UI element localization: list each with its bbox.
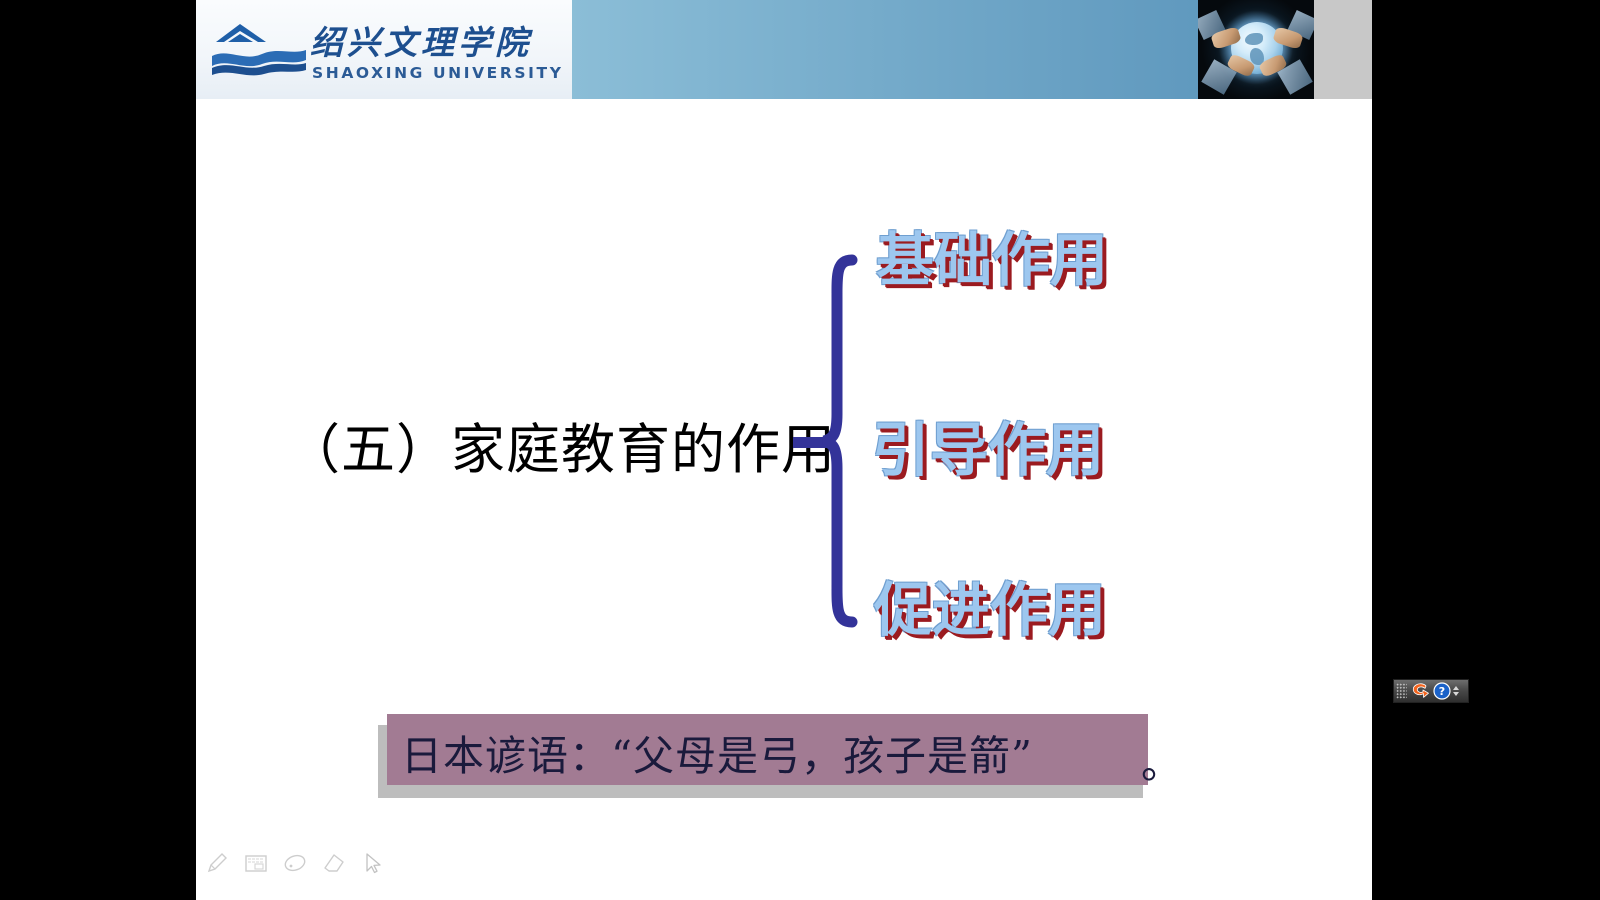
branch-label-3: 促进作用 [874, 563, 1106, 647]
screen-root: 绍兴文理学院 SHAOXING UNIVERSITY （五）家庭教育的作用 [0, 0, 1600, 900]
eraser-icon[interactable] [321, 850, 347, 876]
curly-brace-icon [822, 254, 858, 628]
branch-label-2: 引导作用 [872, 403, 1104, 487]
globe-continent [1245, 33, 1263, 45]
proverb-text: 日本谚语：“父母是弓，孩子是箭” [401, 722, 1033, 782]
drag-grip-icon[interactable] [1396, 683, 1407, 699]
highlighter-icon[interactable] [282, 850, 308, 876]
hands-holding-globe-photo [1198, 0, 1314, 99]
university-name-chinese: 绍兴文理学院 [310, 16, 532, 64]
slide-header-band: 绍兴文理学院 SHAOXING UNIVERSITY [196, 0, 1372, 99]
cursor-arrow-icon[interactable] [360, 850, 386, 876]
sogou-ime-toolbar[interactable]: ? [1393, 679, 1469, 703]
header-right-filler [1314, 0, 1372, 99]
keyboard-icon[interactable] [243, 850, 269, 876]
svg-text:?: ? [1439, 685, 1445, 698]
pen-icon[interactable] [204, 850, 230, 876]
branch-label-1: 基础作用 [876, 213, 1108, 297]
chevron-up-icon[interactable] [1453, 686, 1459, 690]
university-name-block: 绍兴文理学院 SHAOXING UNIVERSITY [310, 14, 560, 88]
university-name-english: SHAOXING UNIVERSITY [312, 64, 564, 82]
chevron-down-icon[interactable] [1453, 692, 1459, 696]
ink-annotation-toolbar[interactable] [204, 846, 364, 880]
presentation-slide: 绍兴文理学院 SHAOXING UNIVERSITY （五）家庭教育的作用 [196, 0, 1372, 900]
shaoxing-university-mountain-wave-logo-icon [210, 22, 310, 78]
sogou-logo-icon[interactable] [1410, 682, 1430, 700]
ime-scroll-arrows[interactable] [1453, 686, 1459, 696]
proverb-trailing-punctuation: 。 [1141, 730, 1182, 790]
page-title: （五）家庭教育的作用 [286, 405, 836, 484]
help-icon[interactable]: ? [1433, 682, 1451, 700]
